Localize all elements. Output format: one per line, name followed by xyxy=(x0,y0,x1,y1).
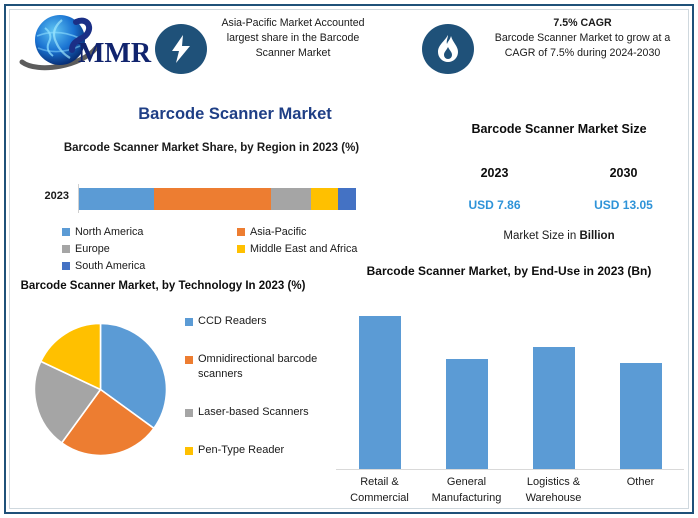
region-legend-item: South America xyxy=(62,258,237,274)
legend-swatch-icon xyxy=(62,228,70,236)
legend-swatch-icon xyxy=(237,245,245,253)
region-legend-label: Asia-Pacific xyxy=(250,224,306,240)
mmr-logo: MMR xyxy=(18,12,153,74)
end-use-category-label: General Manufacturing xyxy=(423,474,510,506)
flame-icon xyxy=(422,24,474,74)
region-legend-label: Middle East and Africa xyxy=(250,241,357,257)
region-legend-label: Europe xyxy=(75,241,110,257)
market-size-panel: Barcode Scanner Market Size 2023 2030 US… xyxy=(430,120,688,260)
end-use-chart-title: Barcode Scanner Market, by End-Use in 20… xyxy=(344,262,674,280)
region-share-chart: Barcode Scanner Market Share, by Region … xyxy=(14,140,414,270)
end-use-chart: Barcode Scanner Market, by End-Use in 20… xyxy=(330,262,688,512)
page-title: Barcode Scanner Market xyxy=(20,105,450,124)
end-use-category-labels: Retail & CommercialGeneral Manufacturing… xyxy=(336,474,684,506)
market-size-value-2030: USD 13.05 xyxy=(559,198,688,212)
market-size-footnote-prefix: Market Size in xyxy=(503,230,579,242)
market-size-values: USD 7.86 USD 13.05 xyxy=(430,198,688,212)
market-size-value-2023: USD 7.86 xyxy=(430,198,559,212)
technology-pie xyxy=(33,322,168,457)
legend-swatch-icon xyxy=(237,228,245,236)
market-size-year-2030: 2030 xyxy=(559,166,688,180)
region-legend-label: North America xyxy=(75,224,143,240)
technology-legend-label: Pen-Type Reader xyxy=(198,443,284,458)
region-axis-label: 2023 xyxy=(14,190,69,202)
legend-swatch-icon xyxy=(185,409,193,417)
region-segment xyxy=(338,188,356,210)
end-use-bar xyxy=(533,347,575,469)
end-use-category-label: Retail & Commercial xyxy=(336,474,423,506)
end-use-bar xyxy=(359,316,401,469)
end-use-category-label: Other xyxy=(597,474,684,506)
cagr-value: 7.5% CAGR xyxy=(480,16,685,31)
legend-swatch-icon xyxy=(185,356,193,364)
region-share-plot: 2023 xyxy=(14,184,414,216)
end-use-plot xyxy=(336,306,684,470)
technology-legend-label: Laser-based Scanners xyxy=(198,405,309,420)
legend-swatch-icon xyxy=(185,318,193,326)
header-callout-asia-pacific-text: Asia-Pacific Market Accounted largest sh… xyxy=(213,16,373,61)
technology-legend-item: Omnidirectional barcode scanners xyxy=(185,352,340,382)
infographic-page: MMR Asia-Pacific Market Accounted larges… xyxy=(0,0,698,518)
region-legend-item: North America xyxy=(62,224,237,240)
svg-text:MMR: MMR xyxy=(78,38,152,69)
region-segment xyxy=(311,188,338,210)
lightning-bolt-icon xyxy=(155,24,207,74)
region-segment xyxy=(79,188,154,210)
market-size-title: Barcode Scanner Market Size xyxy=(430,120,688,138)
end-use-category-label: Logistics & Warehouse xyxy=(510,474,597,506)
region-legend-item: Europe xyxy=(62,241,237,257)
market-size-footnote: Market Size in Billion xyxy=(430,230,688,242)
market-size-year-2023: 2023 xyxy=(430,166,559,180)
technology-legend: CCD ReadersOmnidirectional barcode scann… xyxy=(185,314,340,481)
technology-legend-item: Pen-Type Reader xyxy=(185,443,340,458)
legend-swatch-icon xyxy=(185,447,193,455)
technology-legend-label: Omnidirectional barcode scanners xyxy=(198,352,340,382)
technology-share-chart: Barcode Scanner Market, by Technology In… xyxy=(10,278,340,513)
end-use-bar xyxy=(620,363,662,469)
region-segment xyxy=(154,188,270,210)
market-size-years: 2023 2030 xyxy=(430,166,688,180)
region-legend-label: South America xyxy=(75,258,145,274)
legend-swatch-icon xyxy=(62,245,70,253)
end-use-bar xyxy=(446,359,488,469)
region-legend-item: Asia-Pacific xyxy=(237,224,412,240)
globe-icon: MMR xyxy=(18,12,153,74)
market-size-footnote-unit: Billion xyxy=(579,230,614,242)
header: MMR Asia-Pacific Market Accounted larges… xyxy=(12,10,686,90)
technology-legend-item: Laser-based Scanners xyxy=(185,405,340,420)
cagr-description: Barcode Scanner Market to grow at a CAGR… xyxy=(495,32,670,59)
technology-legend-item: CCD Readers xyxy=(185,314,340,329)
end-use-baseline xyxy=(336,469,684,470)
technology-legend-label: CCD Readers xyxy=(198,314,266,329)
region-share-chart-title: Barcode Scanner Market Share, by Region … xyxy=(24,140,399,157)
header-callout-cagr-text: 7.5% CAGR Barcode Scanner Market to grow… xyxy=(480,16,685,61)
legend-swatch-icon xyxy=(62,262,70,270)
technology-share-chart-title: Barcode Scanner Market, by Technology In… xyxy=(18,278,308,295)
region-segment xyxy=(271,188,311,210)
region-legend-item: Middle East and Africa xyxy=(237,241,412,257)
region-stacked-bar xyxy=(79,188,356,210)
